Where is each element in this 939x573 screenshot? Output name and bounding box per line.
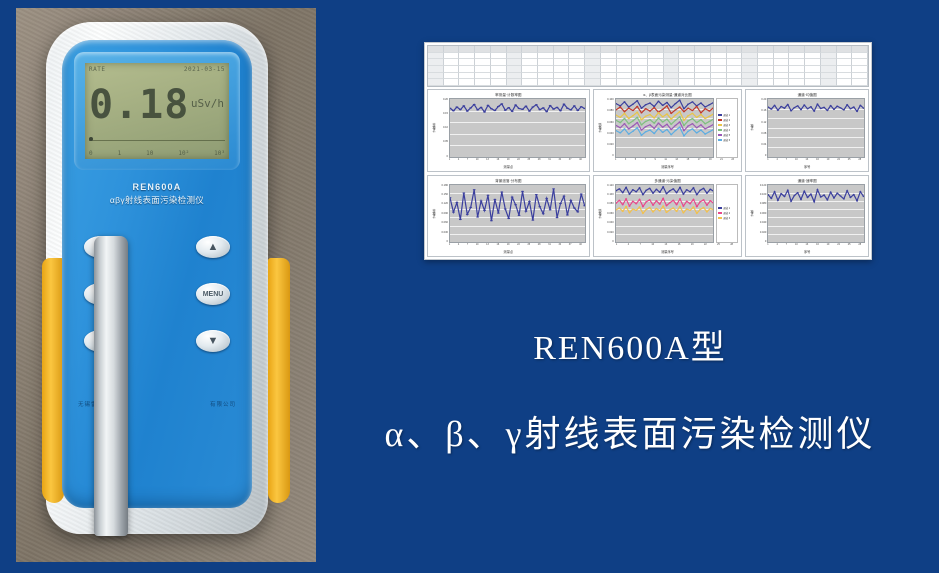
chart-data-point xyxy=(542,213,545,214)
chart-data-point xyxy=(524,210,527,211)
chart-x-axis-label: 测量点 xyxy=(431,164,586,169)
chart-data-point xyxy=(644,131,646,132)
chart-y-axis-label: 计数值 xyxy=(597,184,603,244)
table-cell xyxy=(601,73,617,80)
chart-legend-item: 通道 6 xyxy=(718,138,736,142)
chart-data-point xyxy=(619,132,621,133)
chart-legend-item: 通道 2 xyxy=(718,211,736,215)
table-cell xyxy=(569,66,585,73)
device-name-text: αβγ射线表面污染检测仪 xyxy=(62,194,252,206)
chart-data-point xyxy=(840,195,842,196)
table-cell xyxy=(679,59,695,66)
chart-y-tick: 0.040 xyxy=(607,221,614,224)
chart-plot-area xyxy=(615,98,715,158)
chart-data-point xyxy=(708,121,710,122)
table-cell xyxy=(664,73,680,80)
chart-data-point xyxy=(657,112,659,113)
chart-data-point xyxy=(675,210,677,211)
chart-y-tick: 0.05 xyxy=(443,140,448,143)
table-cell xyxy=(758,59,774,66)
chart-data-point xyxy=(674,120,676,121)
table-cell xyxy=(805,46,821,53)
table-cell xyxy=(444,73,460,80)
chart-data-point xyxy=(655,188,657,189)
chart-data-point xyxy=(678,106,680,107)
chart-data-point xyxy=(483,209,486,210)
device-photo: RATE 2021-03-15 0.18 uSv/h 011010²10³ RE… xyxy=(16,8,316,562)
chart-data-point xyxy=(450,197,451,198)
chart-data-point xyxy=(507,107,510,108)
table-cell xyxy=(507,46,523,53)
chart-data-point xyxy=(644,104,646,105)
chart-data-point xyxy=(700,129,702,130)
table-cell xyxy=(711,79,727,86)
chart-data-point xyxy=(661,127,663,128)
chart-data-point xyxy=(618,188,620,189)
table-cell xyxy=(444,79,460,86)
table-cell xyxy=(758,79,774,86)
chart-data-point xyxy=(662,186,664,187)
chart-data-point xyxy=(800,198,802,199)
chart-data-point xyxy=(683,108,685,109)
chart-y-tick: 0.04 xyxy=(761,143,766,146)
lcd-bargraph xyxy=(89,137,225,141)
chart-y-tick: 0.040 xyxy=(760,221,767,224)
chart-data-point xyxy=(695,127,697,128)
device-model-text: REN600A xyxy=(62,182,252,192)
table-cell xyxy=(711,46,727,53)
chart-data-point xyxy=(856,200,858,201)
chart-data-point xyxy=(689,191,691,192)
chart-data-point xyxy=(576,110,579,111)
chart-data-point xyxy=(687,115,689,116)
chart-data-point xyxy=(797,105,799,106)
chart-legend-swatch xyxy=(718,129,722,131)
chart-y-tick: 0.180 xyxy=(442,184,449,187)
table-cell xyxy=(711,73,727,80)
chart-panel[interactable]: α、β表面污染测量·通道对比图计数值0.1000.0800.0600.0400.… xyxy=(593,89,743,172)
chart-legend-swatch xyxy=(718,119,722,121)
chart-series-line xyxy=(768,189,864,201)
table-cell xyxy=(695,53,711,60)
chart-data-point xyxy=(511,111,514,112)
chart-data-point xyxy=(566,214,569,215)
chart-data-point xyxy=(830,105,832,106)
table-cell xyxy=(459,46,475,53)
chart-data-point xyxy=(687,108,689,109)
table-cell xyxy=(428,59,444,66)
chart-data-point xyxy=(702,206,704,207)
chart-data-point xyxy=(483,111,486,112)
chart-data-point xyxy=(511,196,514,197)
table-cell xyxy=(554,59,570,66)
device-keypad: ⏻ ⚷ ▶ ▲ MENU ▼ xyxy=(62,236,252,356)
chart-data-point xyxy=(695,193,697,194)
device-front-face: RATE 2021-03-15 0.18 uSv/h 011010²10³ RE… xyxy=(62,40,252,508)
chart-data-point xyxy=(569,199,572,200)
chart-data-point xyxy=(487,105,490,106)
table-cell xyxy=(695,66,711,73)
chart-data-point xyxy=(704,118,706,119)
chart-data-point xyxy=(452,211,455,212)
chart-y-axis-label: 计数值 xyxy=(597,98,603,158)
chart-data-point xyxy=(524,106,527,107)
chart-series-line xyxy=(616,127,714,136)
chart-data-point xyxy=(685,189,687,190)
chart-data-point xyxy=(777,110,779,111)
chart-data-point xyxy=(504,208,507,209)
chart-data-point xyxy=(640,129,642,130)
chart-data-point xyxy=(833,109,835,110)
chart-x-axis-label: 测量序号 xyxy=(597,164,739,169)
chart-data-point xyxy=(655,200,657,201)
chart-data-point xyxy=(853,106,855,107)
chart-data-point xyxy=(706,211,708,212)
table-cell xyxy=(475,53,491,60)
chart-data-point xyxy=(672,199,674,200)
chart-data-point xyxy=(636,117,638,118)
chart-y-tick: 0.060 xyxy=(607,212,614,215)
table-cell xyxy=(821,53,837,60)
table-cell xyxy=(617,46,633,53)
chart-data-point xyxy=(695,106,697,107)
chart-data-point xyxy=(817,189,819,190)
chart-y-tick: 0.080 xyxy=(607,109,614,112)
table-cell xyxy=(617,53,633,60)
chart-data-point xyxy=(846,104,848,105)
chart-data-point xyxy=(704,106,706,107)
chart-data-point xyxy=(476,109,479,110)
chart-data-point xyxy=(500,103,503,104)
chart-plot-area xyxy=(449,98,586,158)
chart-data-point xyxy=(661,109,663,110)
chart-legend-item: 通道 3 xyxy=(718,216,736,220)
chart-data-point xyxy=(531,106,534,107)
chart-data-point xyxy=(787,189,789,190)
chart-data-point xyxy=(683,111,685,112)
chart-data-point xyxy=(545,197,548,198)
table-cell xyxy=(821,46,837,53)
chart-data-point xyxy=(674,114,676,115)
chart-data-point xyxy=(632,131,634,132)
product-description-heading: α、β、γ射线表面污染检测仪 xyxy=(330,405,930,457)
chart-data-point xyxy=(636,122,638,123)
table-cell xyxy=(789,53,805,60)
table-cell xyxy=(522,79,538,86)
chart-data-point xyxy=(682,205,684,206)
chart-y-axis-label: 计数率 xyxy=(431,184,437,244)
chart-data-point xyxy=(780,106,782,107)
table-cell xyxy=(758,53,774,60)
table-cell xyxy=(852,66,868,73)
chart-data-point xyxy=(644,121,646,122)
chart-data-point xyxy=(497,106,500,107)
table-cell xyxy=(522,46,538,53)
chart-data-point xyxy=(545,111,548,112)
chart-data-point xyxy=(691,123,693,124)
table-cell xyxy=(742,73,758,80)
chart-data-point xyxy=(837,192,839,193)
chart-data-point xyxy=(709,207,711,208)
table-cell xyxy=(522,66,538,73)
lcd-status-row: RATE 2021-03-15 xyxy=(89,66,225,73)
lcd-status-left: RATE xyxy=(89,66,105,73)
chart-legend-label: 通道 1 xyxy=(723,113,730,117)
chart-data-point xyxy=(678,111,680,112)
chart-data-point xyxy=(518,108,521,109)
chart-data-point xyxy=(695,212,697,213)
table-cell xyxy=(569,79,585,86)
chart-y-tick: 0.080 xyxy=(760,202,767,205)
chart-panel[interactable]: 多通道·污染值图计数值0.1200.1000.0800.0600.0400.02… xyxy=(593,175,743,258)
chart-panel[interactable]: 率测量·计数率图计数率0.200.150.100.050147101316192… xyxy=(427,89,590,172)
chart-data-point xyxy=(640,119,642,120)
chart-legend-label: 通道 2 xyxy=(723,118,730,122)
table-cell xyxy=(585,79,601,86)
chart-data-point xyxy=(655,207,657,208)
table-cell xyxy=(491,73,507,80)
table-cell xyxy=(459,66,475,73)
chart-data-point xyxy=(623,118,625,119)
chart-data-point xyxy=(473,189,476,190)
chart-data-point xyxy=(642,193,644,194)
chart-data-point xyxy=(490,220,493,221)
table-cell xyxy=(852,79,868,86)
chart-data-point xyxy=(708,131,710,132)
chart-data-point xyxy=(674,125,676,126)
table-cell xyxy=(648,79,664,86)
chart-data-point xyxy=(504,110,507,111)
chart-data-point xyxy=(559,110,562,111)
chart-data-point xyxy=(820,196,822,197)
chart-data-point xyxy=(666,102,668,103)
table-cell xyxy=(837,79,853,86)
chart-data-point xyxy=(794,107,796,108)
table-cell xyxy=(821,79,837,86)
chart-legend-label: 通道 6 xyxy=(723,138,730,142)
table-cell xyxy=(679,46,695,53)
chart-data-point xyxy=(804,190,806,191)
chart-data-point xyxy=(691,118,693,119)
chart-data-point xyxy=(704,108,706,109)
chart-data-point xyxy=(627,118,629,119)
chart-data-point xyxy=(628,212,630,213)
menu-button[interactable]: MENU xyxy=(196,283,230,305)
chart-series-svg xyxy=(616,185,714,243)
chart-data-point xyxy=(623,123,625,124)
chart-data-point xyxy=(653,123,655,124)
table-cell xyxy=(789,73,805,80)
lcd-scale-tick: 1 xyxy=(118,150,122,157)
chart-data-point xyxy=(628,205,630,206)
chart-data-point xyxy=(670,113,672,114)
chart-data-point xyxy=(514,104,517,105)
lcd-bezel: RATE 2021-03-15 0.18 uSv/h 011010²10³ xyxy=(74,52,240,170)
chart-body: 计数率0.200.150.100.050 xyxy=(431,98,586,158)
chart-data-point xyxy=(645,208,647,209)
chart-data-point xyxy=(827,110,829,111)
product-model-heading: REN600A型 xyxy=(330,320,930,369)
chart-data-point xyxy=(549,209,552,210)
chart-data-point xyxy=(632,120,634,121)
chart-data-point xyxy=(652,192,654,193)
chart-data-point xyxy=(794,194,796,195)
chart-data-point xyxy=(649,114,651,115)
chart-data-point xyxy=(621,192,623,193)
chart-data-point xyxy=(552,188,555,189)
up-button[interactable]: ▲ xyxy=(196,236,230,258)
lcd-scale-tick: 10³ xyxy=(214,150,225,157)
chart-data-point xyxy=(666,118,668,119)
chart-series-line xyxy=(768,104,864,111)
chart-panel[interactable]: 通道·均值图计数0.200.160.120.080.04014710131619… xyxy=(745,89,869,172)
chart-data-point xyxy=(466,213,469,214)
chart-data-point xyxy=(679,186,681,187)
chart-data-point xyxy=(675,204,677,205)
table-cell xyxy=(475,66,491,73)
chart-data-point xyxy=(709,200,711,201)
table-cell xyxy=(727,79,743,86)
chart-legend-swatch xyxy=(718,124,722,126)
data-analysis-software-screenshot: 率测量·计数率图计数率0.200.150.100.050147101316192… xyxy=(424,42,872,260)
chart-data-point xyxy=(497,212,500,213)
chart-data-point xyxy=(627,128,629,129)
lcd-scale-tick: 10 xyxy=(146,150,153,157)
chart-data-point xyxy=(846,190,848,191)
table-cell xyxy=(789,79,805,86)
table-cell xyxy=(632,66,648,73)
chart-data-point xyxy=(636,100,638,101)
chart-data-point xyxy=(706,204,708,205)
table-cell xyxy=(522,59,538,66)
chart-data-point xyxy=(632,104,634,105)
table-cell xyxy=(554,46,570,53)
table-cell xyxy=(601,53,617,60)
chart-x-axis-label: 序号 xyxy=(749,164,865,169)
table-cell xyxy=(679,73,695,80)
chart-data-point xyxy=(695,117,697,118)
table-cell xyxy=(648,73,664,80)
table-cell xyxy=(774,66,790,73)
chart-y-ticks: 0.200.160.120.080.040 xyxy=(755,98,767,158)
chart-legend-label: 通道 5 xyxy=(723,133,730,137)
chart-data-point xyxy=(777,199,779,200)
table-cell xyxy=(837,73,853,80)
chart-data-point xyxy=(668,209,670,210)
chart-data-point xyxy=(619,117,621,118)
chart-data-point xyxy=(657,128,659,129)
table-cell xyxy=(444,59,460,66)
chart-data-point xyxy=(619,122,621,123)
chart-data-point xyxy=(843,198,845,199)
chart-y-tick: 0.120 xyxy=(760,184,767,187)
chart-data-point xyxy=(649,102,651,103)
chart-data-point xyxy=(648,199,650,200)
chart-data-point xyxy=(652,204,654,205)
chart-y-tick: 0.120 xyxy=(607,184,614,187)
chart-data-point xyxy=(521,109,524,110)
chart-data-point xyxy=(631,189,633,190)
chart-series-line xyxy=(616,186,714,194)
chart-data-point xyxy=(666,124,668,125)
chart-body: 计数值0.1200.1000.0800.0600.0400.0200通道 1通道… xyxy=(597,184,739,244)
chart-panel[interactable]: 通道·速率图计数0.1200.1000.0800.0600.0400.02001… xyxy=(745,175,869,258)
chart-data-point xyxy=(649,119,651,120)
chart-data-point xyxy=(623,128,625,129)
chart-series-svg xyxy=(768,99,864,157)
chart-data-point xyxy=(556,216,559,217)
chart-data-point xyxy=(807,108,809,109)
chart-data-point xyxy=(674,109,676,110)
chart-y-tick: 0.020 xyxy=(607,231,614,234)
chart-data-point xyxy=(569,109,572,110)
table-cell xyxy=(601,79,617,86)
table-cell xyxy=(664,59,680,66)
chart-data-point xyxy=(853,193,855,194)
chart-y-ticks: 0.1800.1500.1200.0900.0600.0300 xyxy=(437,184,449,244)
table-cell xyxy=(695,79,711,86)
table-cell xyxy=(742,46,758,53)
chart-series-line xyxy=(616,206,714,213)
chart-data-point xyxy=(653,107,655,108)
chart-data-point xyxy=(682,193,684,194)
chart-data-point xyxy=(700,112,702,113)
table-cell xyxy=(805,79,821,86)
chart-data-point xyxy=(625,198,627,199)
chart-legend-label: 通道 1 xyxy=(723,206,730,210)
chart-legend-swatch xyxy=(718,207,722,209)
chart-data-point xyxy=(708,110,710,111)
chart-data-point xyxy=(708,126,710,127)
chart-data-point xyxy=(658,203,660,204)
chart-y-tick: 0.20 xyxy=(761,98,766,101)
chart-data-point xyxy=(638,198,640,199)
chart-panel[interactable]: 背景涨落·分布图计数率0.1800.1500.1200.0900.0600.03… xyxy=(427,175,590,258)
table-cell xyxy=(585,66,601,73)
chart-data-point xyxy=(648,187,650,188)
down-button[interactable]: ▼ xyxy=(196,330,230,352)
chart-data-point xyxy=(668,190,670,191)
chart-data-point xyxy=(689,203,691,204)
chart-data-point xyxy=(653,117,655,118)
chart-data-point xyxy=(704,128,706,129)
table-cell xyxy=(742,79,758,86)
chart-data-point xyxy=(702,187,704,188)
table-cell xyxy=(805,59,821,66)
chart-data-point xyxy=(774,105,776,106)
lcd-scale-tick: 10² xyxy=(178,150,189,157)
chart-data-point xyxy=(860,105,862,106)
table-cell xyxy=(569,59,585,66)
chart-data-point xyxy=(635,209,637,210)
chart-legend-item: 通道 4 xyxy=(718,128,736,132)
chart-data-point xyxy=(700,102,702,103)
chart-data-point xyxy=(797,192,799,193)
chart-data-point xyxy=(459,109,462,110)
chart-data-point xyxy=(648,206,650,207)
chart-data-point xyxy=(810,193,812,194)
table-cell xyxy=(617,73,633,80)
table-cell xyxy=(569,73,585,80)
chart-data-point xyxy=(623,101,625,102)
table-cell xyxy=(428,53,444,60)
chart-data-point xyxy=(692,198,694,199)
chart-x-axis-label: 测量点 xyxy=(431,249,586,254)
chart-data-point xyxy=(679,198,681,199)
table-cell xyxy=(459,79,475,86)
chart-y-tick: 0.100 xyxy=(760,193,767,196)
chart-data-point xyxy=(790,200,792,201)
